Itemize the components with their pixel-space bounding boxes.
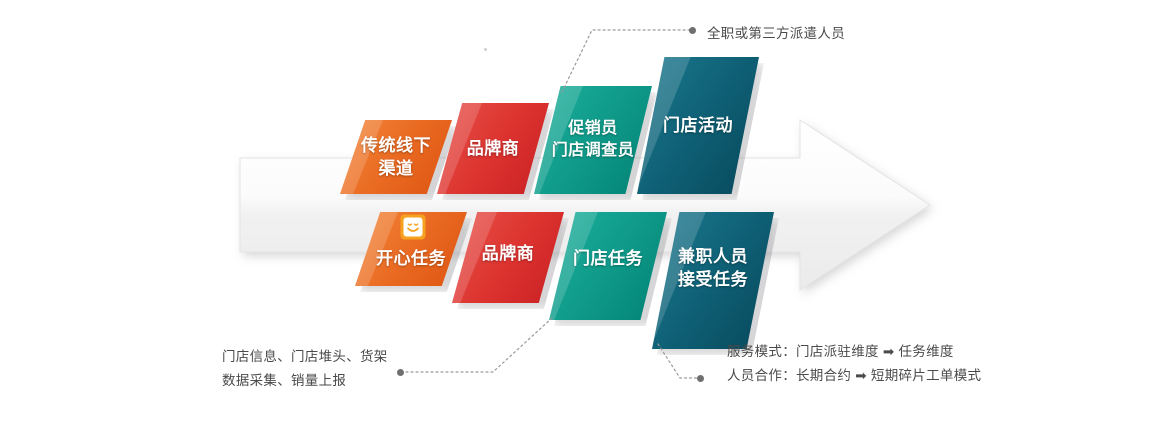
diagram-canvas: 传统线下 渠道 品牌商 促销员 门店调查员 门店活动 开心任务 — [0, 0, 1150, 430]
step-label: 兼职人员 接受任务 — [678, 245, 748, 291]
step-label: 传统线下 渠道 — [361, 134, 431, 180]
connector-dot-staffing — [689, 27, 696, 34]
connector-dot-data-collection — [397, 369, 404, 376]
annotation-line: 人员合作：长期合约 ➡ 短期碎片工单模式 — [727, 364, 981, 388]
annotation-line: 数据采集、销量上报 — [222, 369, 388, 393]
step-label: 品牌商 — [467, 137, 520, 160]
connector-data-collection — [400, 318, 552, 372]
step-label: 门店任务 — [573, 247, 643, 270]
step-label: 品牌商 — [482, 242, 535, 265]
step-store-activity[interactable]: 门店活动 — [637, 57, 759, 194]
step-label: 促销员 门店调查员 — [552, 118, 635, 162]
step-traditional-channel[interactable]: 传统线下 渠道 — [340, 120, 452, 194]
connector-dot-service-model — [697, 375, 704, 382]
annotation-line: 服务模式：门店派驻维度 ➡ 任务维度 — [727, 340, 981, 364]
annotation-line: 全职或第三方派遣人员 — [707, 22, 845, 46]
step-promoter-surveyor[interactable]: 促销员 门店调查员 — [534, 86, 652, 194]
annotation-staffing: 全职或第三方派遣人员 — [707, 22, 845, 46]
annotation-service-model: 服务模式：门店派驻维度 ➡ 任务维度 人员合作：长期合约 ➡ 短期碎片工单模式 — [727, 340, 981, 388]
step-store-task[interactable]: 门店任务 — [549, 212, 667, 320]
step-label: 门店活动 — [663, 114, 733, 137]
step-label: 开心任务 — [376, 247, 446, 270]
decorative-speck — [484, 48, 487, 51]
annotation-line: 门店信息、门店堆头、货架 — [222, 345, 388, 369]
step-brand-owner-top[interactable]: 品牌商 — [437, 103, 549, 194]
smiley-icon — [400, 214, 426, 240]
step-kaixin-task[interactable]: 开心任务 — [355, 212, 467, 286]
annotation-data-collection: 门店信息、门店堆头、货架 数据采集、销量上报 — [222, 345, 388, 393]
step-brand-owner-bottom[interactable]: 品牌商 — [452, 212, 564, 303]
step-parttime-accept-task[interactable]: 兼职人员 接受任务 — [652, 212, 774, 349]
